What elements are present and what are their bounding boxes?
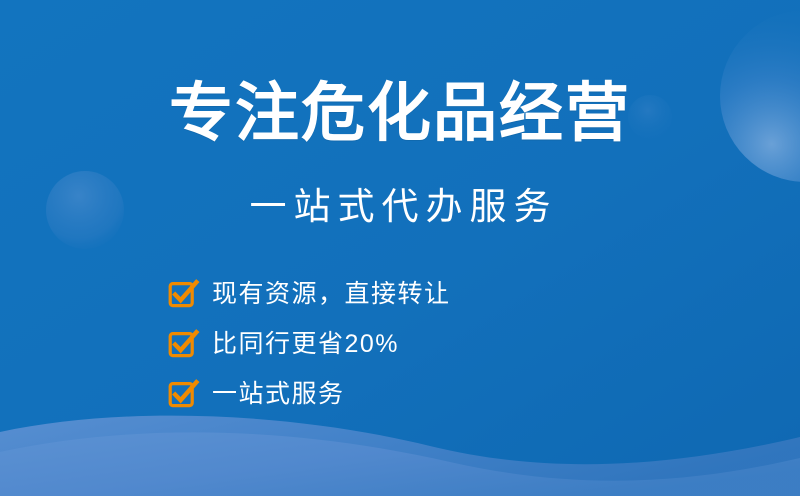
list-item: 现有资源，直接转让	[168, 272, 598, 316]
headline: 专注危化品经营	[0, 78, 800, 150]
banner-content: 专注危化品经营 一站式代办服务 现有资源，直接转让	[0, 0, 800, 496]
checkbox-checked-icon	[168, 279, 198, 309]
list-item-label: 现有资源，直接转让	[212, 279, 451, 309]
checkbox-checked-icon	[168, 379, 198, 409]
promo-banner: 专注危化品经营 一站式代办服务 现有资源，直接转让	[0, 0, 800, 496]
feature-list: 现有资源，直接转让 比同行更省20% 一站式	[168, 272, 598, 422]
subheadline: 一站式代办服务	[0, 184, 800, 230]
list-item-label: 比同行更省20%	[212, 329, 399, 359]
checkbox-checked-icon	[168, 329, 198, 359]
list-item-label: 一站式服务	[212, 379, 345, 409]
list-item: 比同行更省20%	[168, 322, 598, 366]
list-item: 一站式服务	[168, 372, 598, 416]
